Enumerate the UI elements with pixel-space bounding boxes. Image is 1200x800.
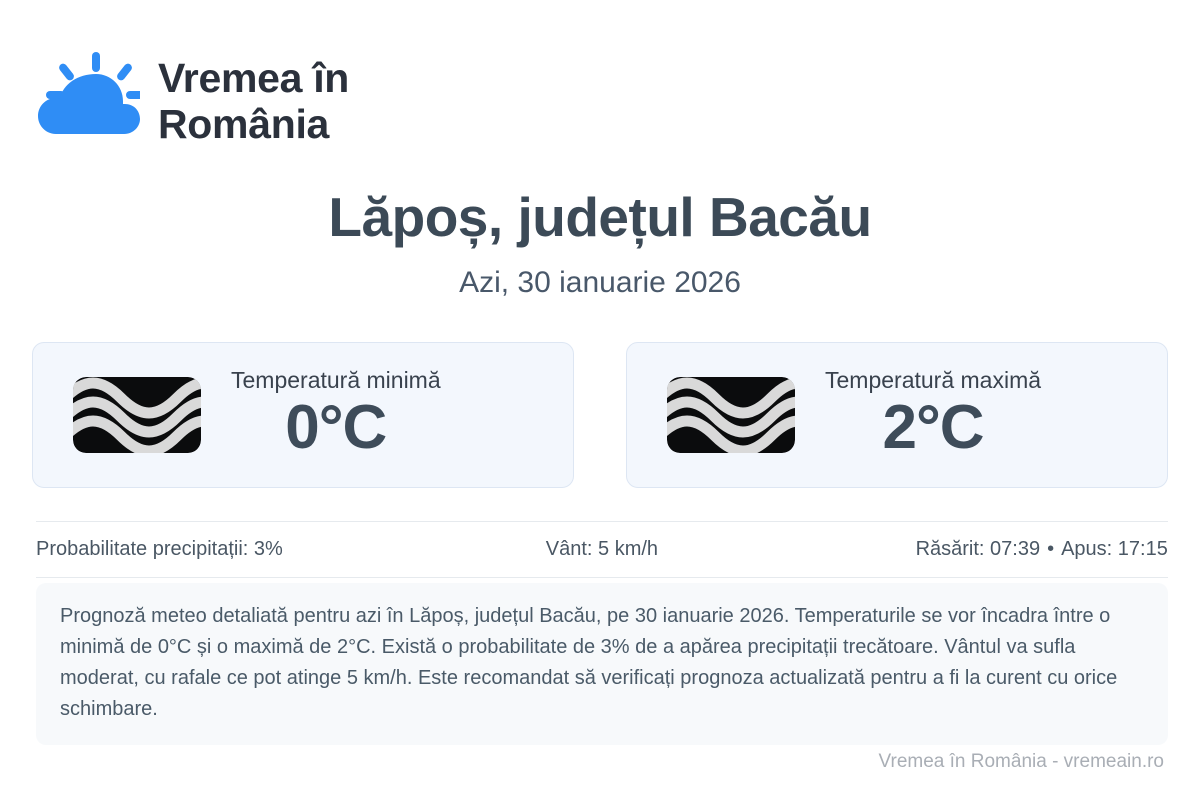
card-temperature-max: Temperatură maximă 2°C	[626, 342, 1168, 488]
page-subtitle: Azi, 30 ianuarie 2026	[0, 266, 1200, 300]
card-max-label: Temperatură maximă	[825, 366, 1041, 395]
divider-top	[36, 521, 1168, 522]
page-title: Lăpoș, județul Bacău	[0, 185, 1200, 249]
card-min-label: Temperatură minimă	[231, 366, 441, 395]
card-min-body: Temperatură minimă 0°C	[231, 366, 441, 464]
forecast-description: Prognoză meteo detaliată pentru azi în L…	[36, 583, 1168, 745]
card-min-value: 0°C	[285, 395, 386, 462]
stat-sunset: Apus: 17:15	[1061, 538, 1168, 560]
stat-sun: Răsărit: 07:39•Apus: 17:15	[791, 536, 1168, 562]
brand-name: Vremea în România	[158, 56, 349, 148]
card-max-value: 2°C	[882, 395, 983, 462]
sun-behind-cloud-icon	[36, 46, 140, 158]
brand-logo[interactable]: Vremea în România	[36, 46, 349, 158]
weather-page: Vremea în România Lăpoș, județul Bacău A…	[0, 0, 1200, 800]
mist-waves-icon	[71, 375, 203, 455]
stat-wind: Vânt: 5 km/h	[413, 536, 790, 562]
mist-waves-icon	[665, 375, 797, 455]
stat-precipitation: Probabilitate precipitații: 3%	[36, 536, 413, 562]
stat-separator: •	[1040, 538, 1061, 560]
divider-bottom	[36, 577, 1168, 578]
footer-credit: Vremea în România - vremeain.ro	[879, 751, 1164, 773]
card-max-body: Temperatură maximă 2°C	[825, 366, 1041, 464]
card-temperature-min: Temperatură minimă 0°C	[32, 342, 574, 488]
temperature-cards: Temperatură minimă 0°C Tem	[32, 342, 1168, 488]
stats-row: Probabilitate precipitații: 3% Vânt: 5 k…	[36, 536, 1168, 562]
stat-sunrise: Răsărit: 07:39	[916, 538, 1041, 560]
